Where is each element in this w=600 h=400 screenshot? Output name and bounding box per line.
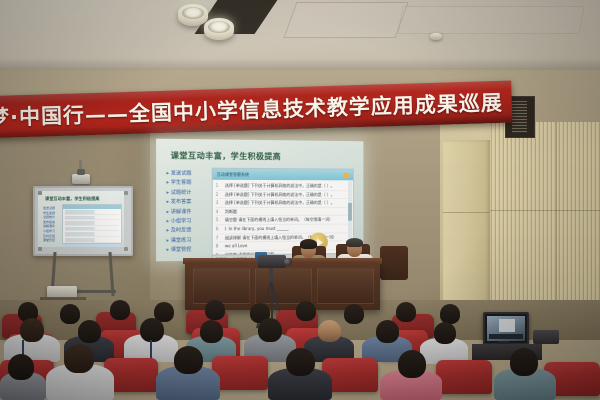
audience-head (286, 348, 315, 376)
app-row-number: 6 (216, 225, 222, 233)
app-titlebar: 互动课堂答题系统 (213, 169, 353, 181)
app-row-text: 选择 [单选题] 下列关于计算机网络的说法中，正确的是（ ）。 (225, 199, 335, 207)
whiteboard-sidebar-item: 课堂管控 (43, 238, 55, 243)
audience-head (376, 320, 399, 343)
whiteboard-app-row (65, 221, 119, 226)
audience-head (140, 318, 164, 342)
slide-sidebar-item: 及时反馈 (166, 227, 207, 237)
app-row-number: 8 (216, 243, 222, 251)
app-row-number: 3 (216, 199, 222, 207)
presenter-right-hair (346, 238, 363, 247)
audience-head (440, 304, 460, 324)
slide-app-window: 互动课堂答题系统 1 选择 [单选题] 下列关于计算机网络的说法中，正确的是（ … (212, 168, 354, 257)
table-panel (255, 268, 312, 304)
whiteboard-app-row (65, 232, 119, 237)
audience-head (344, 304, 364, 324)
slide-sidebar-item: 课堂练习 (166, 236, 207, 246)
app-action-icon (343, 172, 349, 178)
audience-head (78, 320, 101, 343)
video-camera (258, 255, 286, 268)
ceiling-downlight-1 (178, 4, 208, 26)
presenter-chair (380, 246, 408, 280)
audience-head (20, 318, 44, 342)
whiteboard-corner (38, 247, 42, 251)
table-panel (317, 268, 374, 304)
app-row-text: we all Love (225, 242, 248, 250)
app-row-text: 选择 [单选题] 下列关于计算机网络的说法中，正确的是（ ）。 (225, 182, 335, 190)
ceiling (0, 0, 600, 78)
slat-seam-h (490, 210, 600, 211)
audience-head (174, 346, 203, 374)
app-row-number: 5 (216, 217, 222, 225)
wood-slat-panel (490, 122, 600, 322)
audience-head (396, 302, 416, 322)
audience-head (60, 304, 80, 324)
audience (0, 300, 600, 400)
whiteboard-corner (124, 191, 128, 195)
audience-head (258, 318, 282, 342)
app-row-number: 2 (216, 191, 222, 199)
audience-head (398, 350, 426, 378)
audience-head (64, 344, 94, 373)
app-row-text: 判断题 (225, 208, 237, 216)
audience-head (296, 301, 316, 321)
whiteboard-app-row (65, 238, 119, 243)
audience-head (8, 354, 34, 380)
app-row: 1 选择 [单选题] 下列关于计算机网络的说法中，正确的是（ ）。 (216, 182, 350, 191)
ceiling-panel-seam (283, 2, 408, 38)
ceiling-downlight-2 (204, 18, 234, 40)
app-row-text: I. In the library, you must ______ (225, 225, 289, 233)
app-row-text: 填空题 请在下面的横线上填入恰当的单词。（每空限填一词） (225, 216, 333, 224)
whiteboard-sidebar-item: 小组学习 (43, 229, 55, 234)
whiteboard-app-titlebar (63, 205, 121, 209)
audience-head (110, 300, 130, 320)
app-row-list: 1 选择 [单选题] 下列关于计算机网络的说法中，正确的是（ ）。 2 选择 [… (213, 180, 353, 262)
slide-sidebar: 发送试题 学生答题 试题统计 发布答案 讲解课件 小组学习 及时反馈 课堂练习 … (166, 169, 207, 255)
app-row-text: 选择 [单选题] 下列关于计算机网络的说法中，正确的是（ ）。 (225, 191, 335, 199)
lanyard (150, 340, 152, 360)
slide-sidebar-item: 试题统计 (166, 189, 207, 199)
ceiling-panel-seam-2 (398, 6, 585, 34)
slide-sidebar-item: 学生答题 (166, 179, 207, 189)
slide-sidebar-item: 课堂管控 (166, 246, 207, 256)
whiteboard-app-row (65, 216, 119, 221)
audience-head (200, 320, 223, 343)
whiteboard-title: 课堂互动丰富，学生积极提高 (45, 196, 99, 202)
slide-sidebar-item: 讲解课件 (166, 208, 207, 218)
audience-head (205, 300, 225, 320)
whiteboard-sidebar: 发送试题 学生答题 试题统计 发布答案 讲解课件 小组学习 及时反馈 课堂管控 (43, 206, 55, 243)
app-row: 2 选择 [单选题] 下列关于计算机网络的说法中，正确的是（ ）。 (216, 191, 350, 200)
slide-sidebar-item: 发送试题 (166, 169, 207, 179)
slide-sidebar-item: 发布答案 (166, 198, 207, 208)
whiteboard-app-row-selected (65, 244, 119, 247)
whiteboard-app-row (65, 210, 119, 215)
smoke-detector-icon (430, 33, 442, 40)
column-seam (443, 212, 490, 213)
wall-column (443, 140, 490, 322)
presenter-left-hair (300, 239, 317, 249)
whiteboard-corner (124, 247, 128, 251)
seat (212, 356, 268, 390)
slat-seam-v (556, 122, 557, 322)
whiteboard-sidebar-item: 发送试题 (43, 206, 55, 211)
camera-lens-icon (284, 258, 292, 266)
interactive-whiteboard: 课堂互动丰富，学生积极提高 发送试题 学生答题 试题统计 发布答案 讲解课件 小… (33, 186, 133, 256)
whiteboard-app-row (65, 227, 119, 232)
app-title: 互动课堂答题系统 (217, 171, 249, 177)
whiteboard-app-window (62, 204, 122, 244)
short-throw-projector (72, 174, 90, 184)
audience-head (510, 348, 538, 376)
audience-head-bald (318, 320, 341, 342)
photo-scene: 梦·中国行——全国中小学信息技术教学应用成果巡展 课堂互动丰富，学生积极提高 发… (0, 0, 600, 400)
audience-head (434, 322, 456, 344)
slide-title: 课堂互动丰富，学生积极提高 (171, 150, 281, 162)
app-row: 3 选择 [单选题] 下列关于计算机网络的说法中，正确的是（ ）。 (216, 199, 350, 208)
app-row-number: 7 (216, 234, 222, 242)
seat (436, 360, 492, 394)
table-panel (193, 268, 250, 304)
whiteboard-corner (38, 191, 42, 195)
app-row-number: 1 (216, 182, 222, 190)
whiteboard-screen: 课堂互动丰富，学生积极提高 发送试题 学生答题 试题统计 发布答案 讲解课件 小… (38, 191, 124, 247)
slide-sidebar-item: 小组学习 (166, 217, 207, 227)
app-row-number: 4 (216, 208, 222, 216)
projection-screen: 课堂互动丰富，学生积极提高 发送试题 学生答题 试题统计 发布答案 讲解课件 小… (156, 139, 363, 262)
